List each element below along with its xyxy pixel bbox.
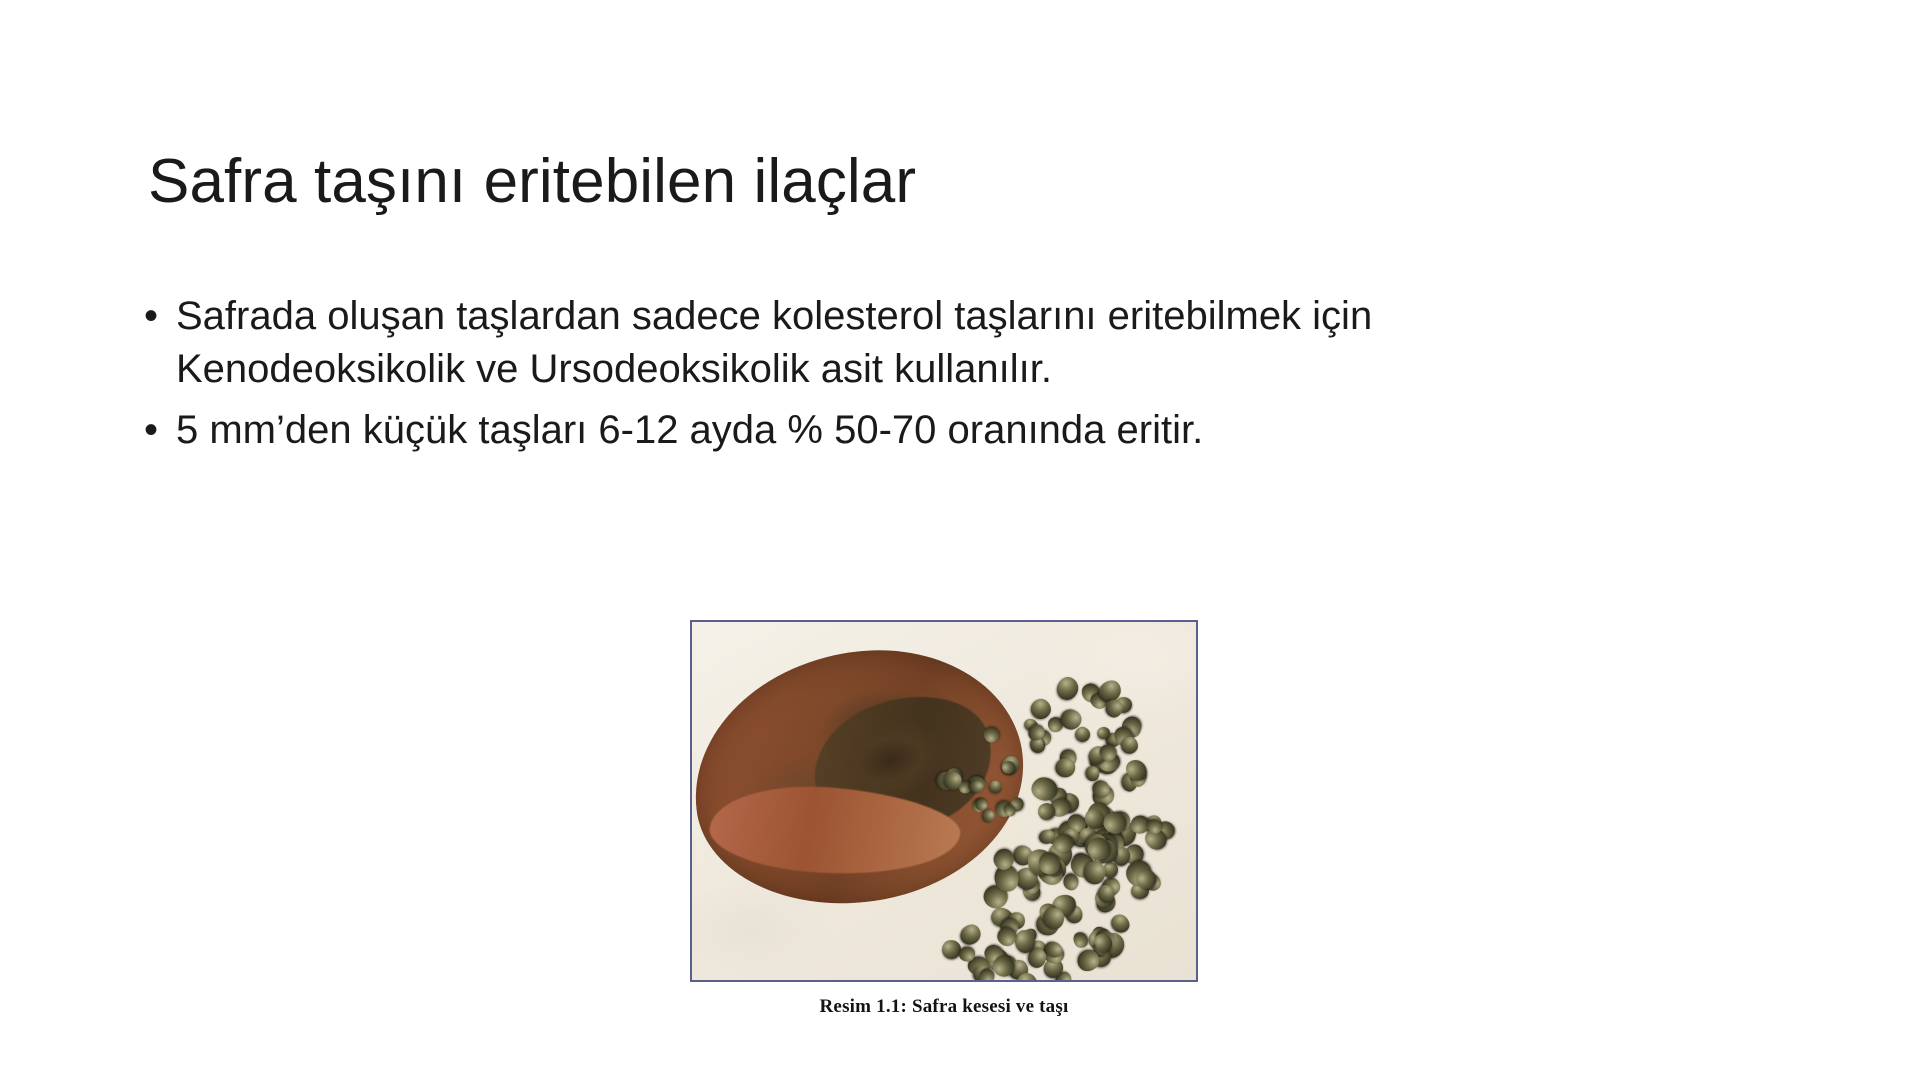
gallstone: [1062, 872, 1079, 891]
gallstone: [987, 778, 1005, 796]
bullet-text-1: Safrada oluşan taşlardan sadece kolester…: [176, 290, 1790, 396]
figure-caption: Resim 1.1: Safra kesesi ve taşı: [690, 996, 1198, 1018]
gallstone: [956, 920, 984, 948]
bullet-marker-icon: •: [140, 290, 176, 343]
figure-gallbladder-stones: Resim 1.1: Safra kesesi ve taşı: [690, 620, 1202, 1018]
slide-body-content: • Safrada oluşan taşlardan sadece kolest…: [140, 290, 1790, 466]
bullet-marker-icon: •: [140, 404, 176, 457]
gallstone: [1070, 929, 1090, 950]
gallstone: [982, 809, 996, 824]
gallstone: [1053, 674, 1080, 703]
gallstone-cluster: [888, 658, 1198, 976]
figure-image-frame: [690, 620, 1198, 982]
list-item: • Safrada oluşan taşlardan sadece kolest…: [140, 290, 1790, 396]
page-title: Safra taşını eritebilen ilaçlar: [148, 146, 1788, 217]
bullet-2-line-1: 5 mm’den küçük taşları 6-12 ayda % 50-70…: [176, 408, 1203, 452]
presentation-slide: Safra taşını eritebilen ilaçlar • Safrad…: [0, 0, 1920, 1080]
list-item: • 5 mm’den küçük taşları 6-12 ayda % 50-…: [140, 404, 1790, 457]
bullet-text-2: 5 mm’den küçük taşları 6-12 ayda % 50-70…: [176, 404, 1790, 457]
bullet-1-line-1: Safrada oluşan taşlardan sadece kolester…: [176, 294, 1372, 338]
gallstone: [968, 780, 984, 794]
gallstone: [1043, 906, 1065, 929]
bullet-1-line-2: Kenodeoksikolik ve Ursodeoksikolik asit …: [176, 343, 1790, 396]
gallstone: [1105, 699, 1124, 719]
gallstone: [980, 723, 1002, 745]
